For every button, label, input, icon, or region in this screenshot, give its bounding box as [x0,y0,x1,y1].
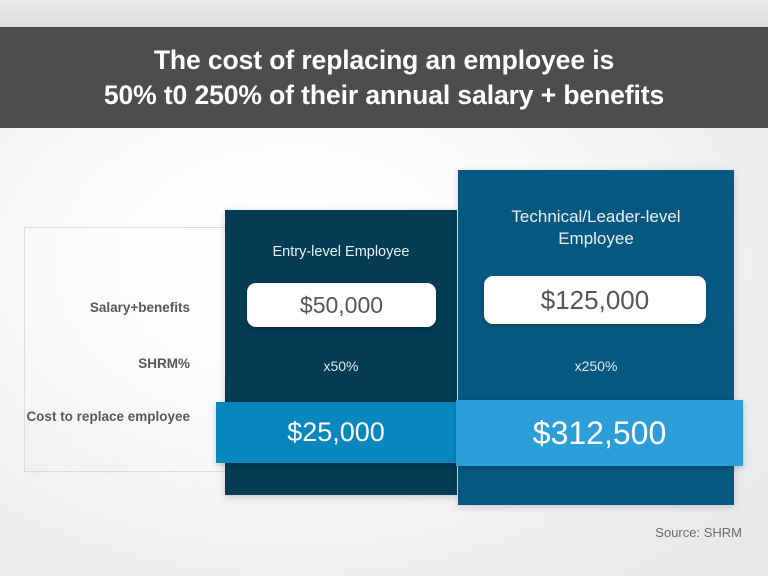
page-title: The cost of replacing an employee is 50%… [80,43,688,112]
slide-canvas: The cost of replacing an employee is 50%… [0,0,768,576]
column-title-technical-leader-level: Technical/Leader-level Employee [458,206,734,250]
salary-value-technical-leader-level: $125,000 [484,276,706,324]
column-title-entry-level: Entry-level Employee [225,243,457,262]
row-label-column: Salary+benefits SHRM% Cost to replace em… [24,227,204,470]
cost-result-bar-entry-level: $25,000 [216,402,456,463]
multiplier-technical-leader-level: x250% [458,358,734,374]
row-label-salary-benefits: Salary+benefits [90,299,190,317]
top-background-sliver [0,0,768,27]
row-label-cost-to-replace: Cost to replace employee [26,408,190,426]
header-band: The cost of replacing an employee is 50%… [0,27,768,128]
source-credit: Source: SHRM [655,525,742,540]
cost-result-bar-technical-leader-level: $312,500 [456,400,743,466]
row-label-shrm-percent: SHRM% [138,355,190,373]
multiplier-entry-level: x50% [225,358,457,374]
salary-value-entry-level: $50,000 [247,283,436,327]
